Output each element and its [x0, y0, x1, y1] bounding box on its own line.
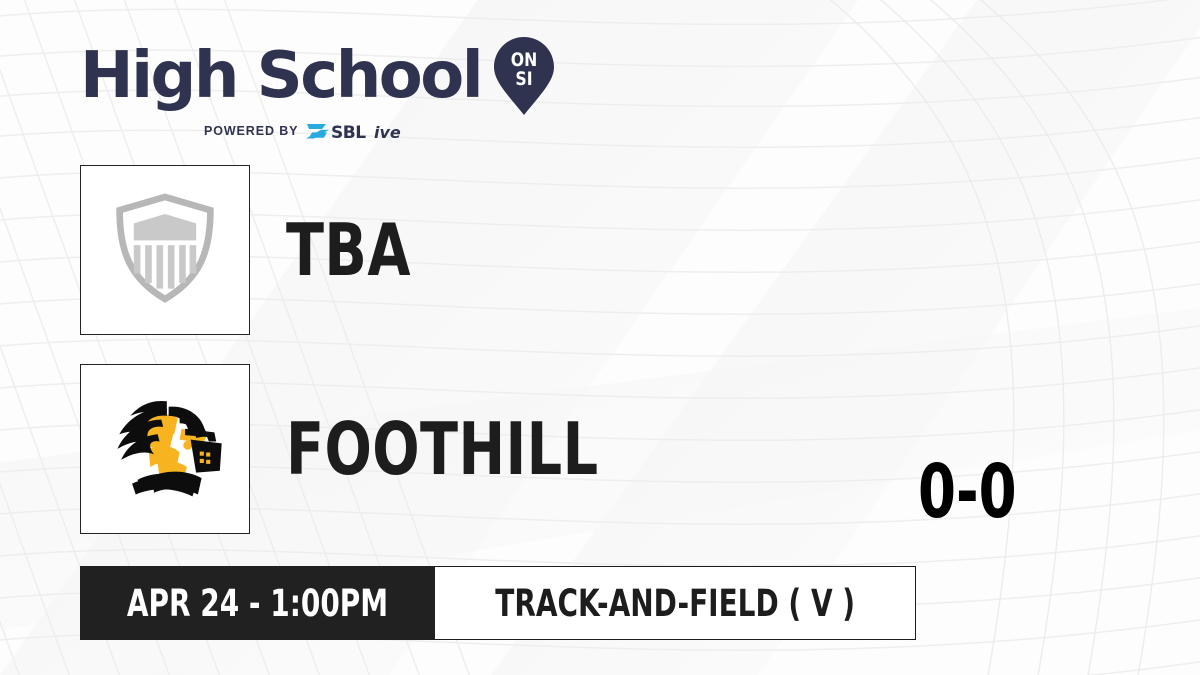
team-logo-box: [80, 364, 250, 534]
brand-logo-row: High School ON SI: [80, 36, 555, 116]
map-pin-badge-icon: ON SI: [493, 36, 555, 116]
team-name: FOOTHILL: [286, 413, 599, 485]
brand-logo-lockup: High School ON SI POWERED BY: [80, 36, 555, 142]
team-row: TBA: [80, 165, 431, 335]
team-logo-box: [80, 165, 250, 335]
knight-mascot-logo-icon: [101, 392, 229, 507]
brand-wordmark: High School: [80, 46, 481, 107]
team-name: TBA: [286, 214, 411, 286]
team-row: FOOTHILL: [80, 364, 649, 534]
badge-line-2: SI: [516, 68, 533, 90]
sblive-prefix: SBL: [331, 123, 366, 142]
sblive-suffix: ive: [374, 123, 401, 142]
powered-by-label: POWERED BY: [204, 124, 298, 138]
game-datetime-block: APR 24 - 1:00PM: [80, 566, 435, 640]
game-datetime-label: APR 24 - 1:00PM: [127, 582, 388, 625]
sblive-logo-icon: SBL ive: [305, 120, 409, 142]
score-display: 0-0: [918, 455, 1017, 529]
graphic-canvas: High School ON SI POWERED BY: [0, 0, 1200, 675]
powered-by-row: POWERED BY SBL ive: [204, 120, 409, 142]
game-sport-block: TRACK-AND-FIELD ( V ): [435, 566, 916, 640]
game-info-bar: APR 24 - 1:00PM TRACK-AND-FIELD ( V ): [80, 566, 916, 640]
shield-placeholder-logo-icon: [113, 191, 217, 310]
game-sport-label: TRACK-AND-FIELD ( V ): [495, 582, 855, 625]
